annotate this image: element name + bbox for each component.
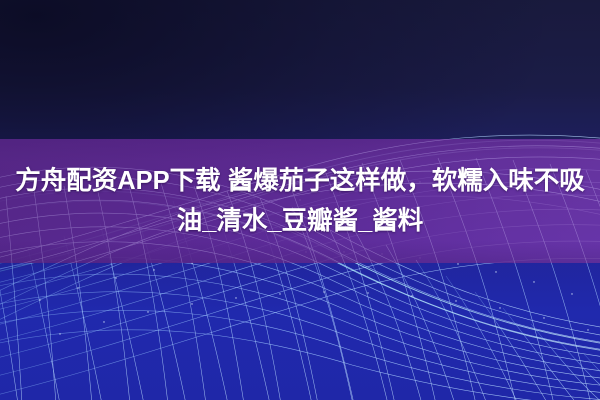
promo-banner: 方舟配资APP下载 酱爆茄子这样做，软糯入味不吸 油_清水_豆瓣酱_酱料 xyxy=(0,0,600,400)
banner-headline: 方舟配资APP下载 酱爆茄子这样做，软糯入味不吸 油_清水_豆瓣酱_酱料 xyxy=(0,139,600,263)
headline-line-2: 油_清水_豆瓣酱_酱料 xyxy=(177,201,424,241)
headline-line-1: 方舟配资APP下载 酱爆茄子这样做，软糯入味不吸 xyxy=(15,161,585,201)
